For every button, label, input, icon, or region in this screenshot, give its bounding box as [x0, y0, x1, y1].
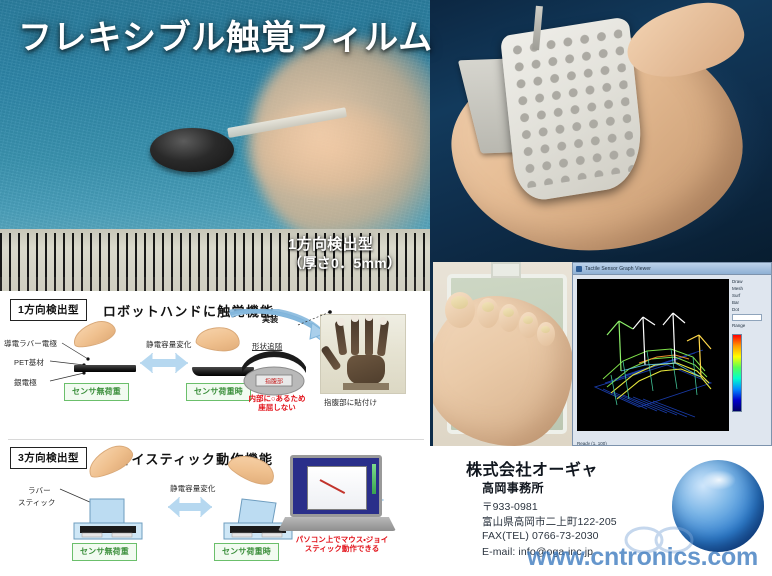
plot-control-label-1: Mesh [732, 286, 769, 291]
state-loaded-2: センサ荷重時 [214, 543, 279, 561]
plot-controls-panel[interactable]: Draw Mesh Surf Bar Dot Range [729, 275, 771, 446]
no-buckling-note: 内部に○あるため 座屈しない [238, 394, 316, 412]
toenail-4 [523, 316, 533, 324]
laptop-base [278, 517, 396, 531]
capacitance-bidir-arrow-1 [140, 353, 188, 373]
company-logo-highlight [702, 470, 736, 490]
panel-single-axis: 1方向検出型 ロボットハンドに触覚機能 導電ラバー電極 PET基材 銀電極 静電… [0, 291, 430, 439]
surface-mesh-svg [577, 279, 729, 431]
site-watermark: www.cntronics.com [527, 543, 758, 572]
plot-control-label-0: Draw [732, 279, 769, 284]
plot-option-box[interactable] [732, 314, 762, 321]
black-disc-sensor [150, 128, 234, 172]
company-name: 株式会社オーギャ [466, 456, 598, 480]
laptop-level-bar [372, 464, 376, 494]
robot-fingertip-4 [379, 317, 387, 325]
robot-fingertip-1 [337, 318, 345, 326]
label-rubber-stick-1: ラバー [28, 485, 51, 496]
state-unloaded-2: センサ無荷重 [72, 543, 137, 561]
pressure-graph-window[interactable]: Tactile Sensor Graph Viewer [572, 262, 772, 446]
poster-root: 1方向検出型 （厚さ0．5mm） 面圧分布検出型 （厚さ1．2mm） [0, 0, 772, 576]
dotted-tactile-film [500, 16, 646, 204]
plot-range-label: Range [732, 323, 769, 328]
no-buckling-line2: 座屈しない [258, 403, 296, 412]
photo-foot-on-sensor-mat [430, 262, 572, 446]
pc-note-line2: スティック動作できる [305, 544, 379, 553]
company-postal-code: 〒933-0981 [482, 499, 538, 514]
sensor-mat-connector [491, 262, 521, 278]
company-office: 高岡事務所 [482, 479, 544, 496]
plot-control-label-4: Dot [732, 307, 769, 312]
label-rubber-stick-2: スティック [18, 497, 55, 508]
toenail-3 [503, 308, 514, 317]
caption-single-axis-line1: 1方向検出型 [288, 236, 401, 255]
plot-control-label-3: Bar [732, 300, 769, 305]
label-capacitance-change-1: 静電容量変化 [146, 339, 191, 350]
panel1-tag: 1方向検出型 [10, 299, 87, 321]
label-capacitance-change-2: 静電容量変化 [170, 483, 215, 494]
panel-three-axis: 3方向検出型 ジョイスティック動作機能 ラバー スティック 静電容量変化 [0, 439, 430, 576]
laptop-app-window [307, 466, 367, 510]
sensor-strip-unloaded [74, 365, 136, 372]
robot-finger-3 [365, 316, 373, 356]
pressure-surface-plot [577, 279, 729, 431]
pc-operation-note: パソコン上でマウス・ジョイ スティック動作できる [272, 535, 412, 553]
svg-text:指腹部: 指腹部 [265, 378, 283, 386]
film-dot-array [511, 27, 637, 188]
label-attach-to-fingertip: 指腹部に貼付け [324, 397, 377, 408]
robot-finger-2 [351, 317, 359, 355]
joystick-sensor-unloaded [66, 497, 152, 545]
panel2-tag: 3方向検出型 [10, 447, 87, 469]
panel-divider [8, 439, 424, 440]
robot-palm [347, 355, 385, 385]
plot-window-title: Tactile Sensor Graph Viewer [585, 266, 651, 272]
label-mount: 実装 [262, 314, 278, 325]
robot-fingertip-2 [351, 314, 359, 322]
toenail-big [451, 296, 468, 309]
plot-control-label-2: Surf [732, 293, 769, 298]
laptop-screen [290, 455, 382, 517]
toenail-2 [482, 302, 494, 312]
curved-sensor-on-tip: 指腹部 [236, 349, 312, 397]
caption-single-axis: 1方向検出型 （厚さ0．5mm） [288, 236, 401, 272]
laptop-pointer-trace [320, 479, 346, 494]
robot-hand-base [343, 383, 389, 390]
pc-note-line1: パソコン上でマウス・ジョイ [296, 535, 389, 544]
diagram-area: 1方向検出型 ロボットハンドに触覚機能 導電ラバー電極 PET基材 銀電極 静電… [0, 291, 430, 576]
toenail-5 [541, 326, 550, 333]
company-address: 富山県高岡市二上町122-205 [482, 514, 617, 529]
photo-pressure-distribution-film: 面圧分布検出型 （厚さ1．2mm） [430, 0, 772, 262]
plot-colorbar [732, 334, 742, 412]
plot-window-titlebar[interactable]: Tactile Sensor Graph Viewer [573, 263, 771, 275]
company-fax-tel: FAX(TEL) 0766-73-2030 [482, 530, 599, 542]
robot-finger-4 [377, 320, 389, 357]
plot-window-body: Draw Mesh Surf Bar Dot Range Ready (1, 1… [573, 275, 771, 446]
page-title: フレキシブル触覚フィルム [18, 10, 433, 59]
capacitance-bidir-arrow-2 [168, 497, 212, 517]
caption-single-axis-line2: （厚さ0．5mm） [288, 255, 401, 273]
attach-leader-line [296, 309, 336, 327]
no-buckling-line1: 内部に○あるため [248, 394, 305, 403]
app-icon [576, 266, 582, 272]
state-unloaded-1: センサ無荷重 [64, 383, 129, 401]
